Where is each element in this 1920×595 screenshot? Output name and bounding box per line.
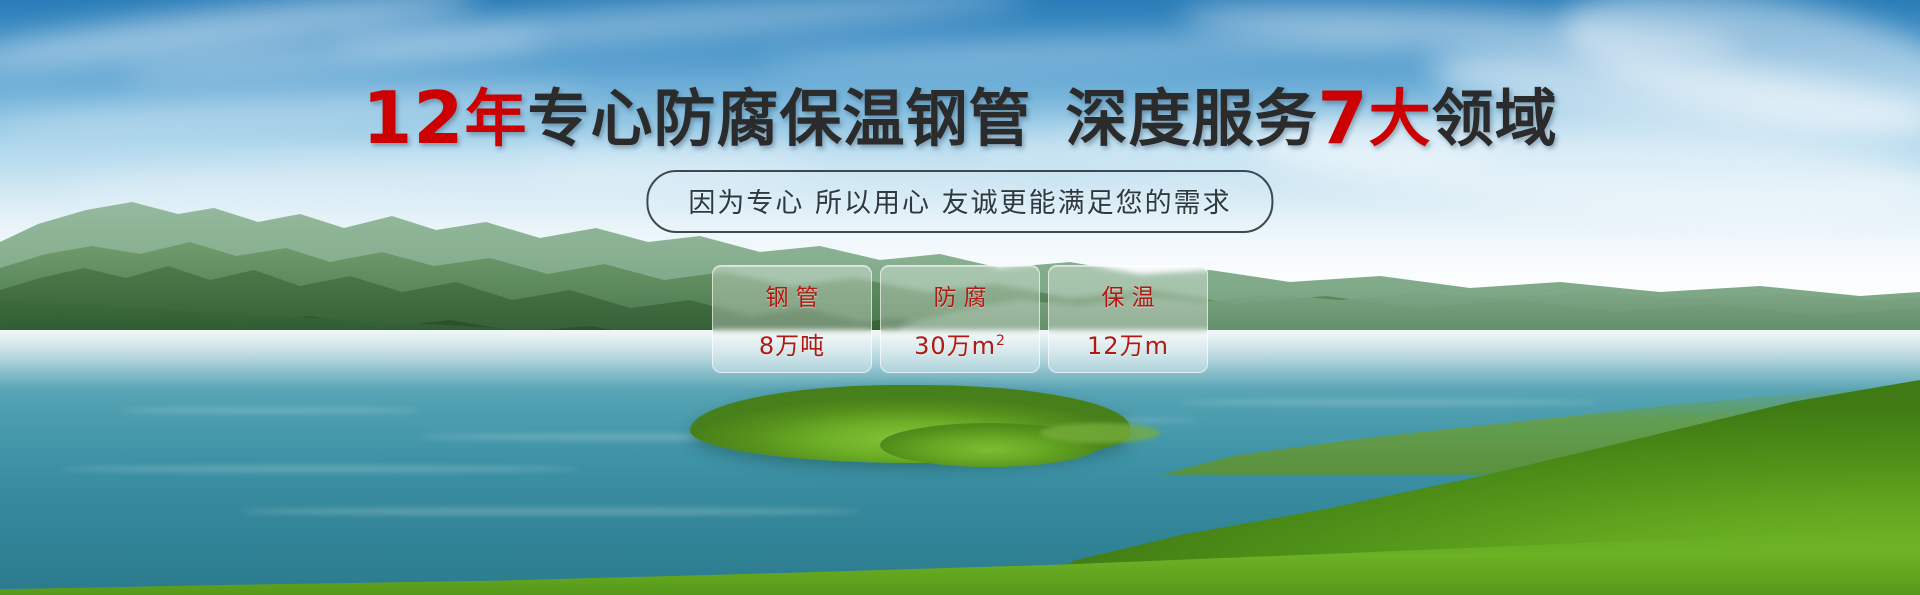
stat-card-label: 钢管 bbox=[759, 278, 826, 312]
stat-card-anticorrosion: 防腐 30万m2 bbox=[880, 265, 1040, 373]
stat-card-insulation: 保温 12万m bbox=[1048, 265, 1208, 373]
stat-card-value: 8万吨 bbox=[759, 326, 825, 361]
headline-fields-unit: 大 bbox=[1369, 82, 1432, 155]
stat-card-value: 30万m2 bbox=[914, 326, 1006, 361]
stat-card-group: 钢管 8万吨 防腐 30万m2 保温 12万m bbox=[712, 265, 1208, 373]
stat-card-label: 保温 bbox=[1095, 278, 1162, 312]
stat-card-value-superscript: 2 bbox=[996, 333, 1006, 349]
headline-years-unit: 年 bbox=[465, 82, 528, 155]
headline-fields-number: 7 bbox=[1318, 76, 1369, 160]
headline: 12年专心防腐保温钢管深度服务7大领域 bbox=[0, 82, 1920, 154]
banner-content: 12年专心防腐保温钢管深度服务7大领域 因为专心 所以用心 友诚更能满足您的需求… bbox=[0, 0, 1920, 595]
stat-card-value: 12万m bbox=[1087, 326, 1169, 361]
headline-main-text: 专心防腐保温钢管 bbox=[528, 82, 1032, 155]
headline-service-text: 深度服务 bbox=[1066, 82, 1318, 155]
stat-card-value-text: 8万吨 bbox=[759, 332, 825, 360]
stat-card-value-text: 12万m bbox=[1087, 332, 1169, 360]
stat-card-label: 防腐 bbox=[927, 278, 994, 312]
subtitle-pill: 因为专心 所以用心 友诚更能满足您的需求 bbox=[646, 170, 1273, 233]
hero-banner: 12年专心防腐保温钢管深度服务7大领域 因为专心 所以用心 友诚更能满足您的需求… bbox=[0, 0, 1920, 595]
headline-years-number: 12 bbox=[362, 76, 464, 160]
stat-card-value-text: 30万m bbox=[914, 332, 996, 360]
headline-fields-text: 领域 bbox=[1432, 82, 1558, 155]
stat-card-steel-pipe: 钢管 8万吨 bbox=[712, 265, 872, 373]
